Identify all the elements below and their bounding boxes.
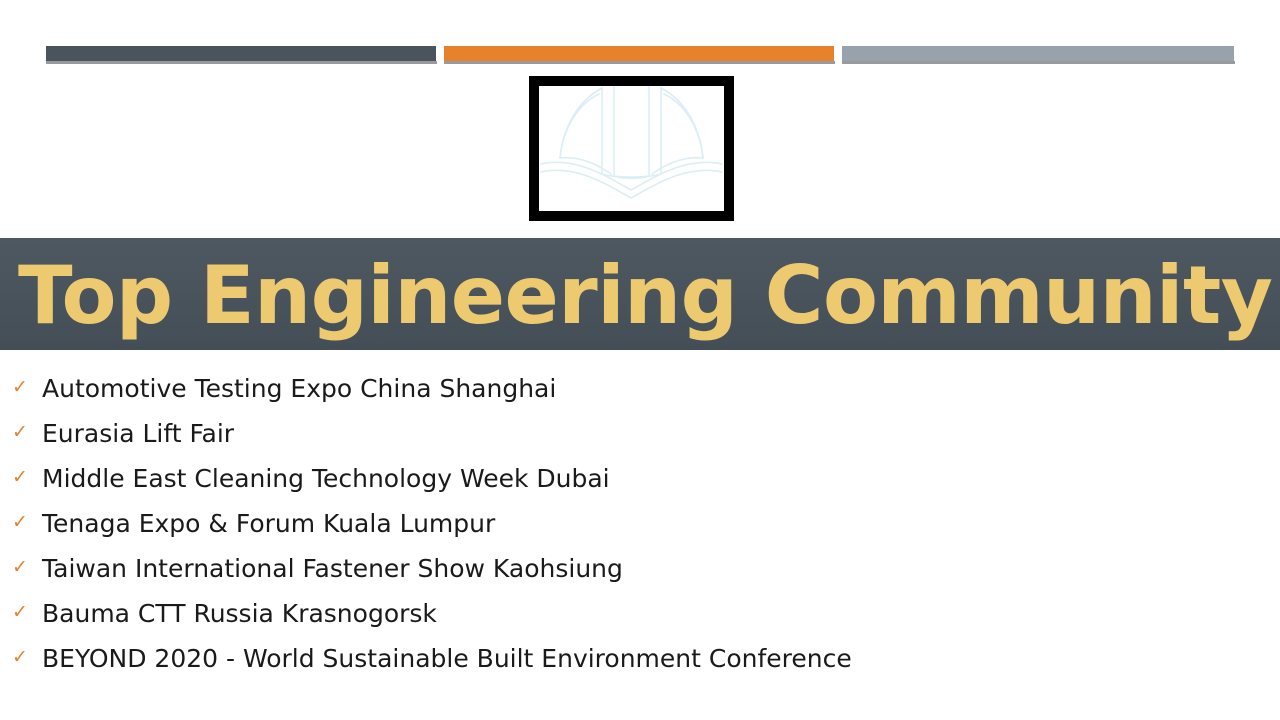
check-icon: ✓	[12, 417, 42, 447]
list-item: ✓ Middle East Cleaning Technology Week D…	[0, 462, 1280, 507]
list-item: ✓ Bauma CTT Russia Krasnogorsk	[0, 597, 1280, 642]
list-item: ✓ Taiwan International Fastener Show Kao…	[0, 552, 1280, 597]
list-item-label: Taiwan International Fastener Show Kaohs…	[42, 552, 623, 585]
check-icon: ✓	[12, 552, 42, 582]
page-title: Top Engineering Community	[18, 256, 1272, 336]
check-icon: ✓	[12, 642, 42, 672]
check-icon: ✓	[12, 372, 42, 402]
hard-hat-icon	[539, 86, 724, 211]
title-banner: Top Engineering Community	[0, 238, 1280, 350]
list-item: ✓ Eurasia Lift Fair	[0, 417, 1280, 462]
check-icon: ✓	[12, 507, 42, 537]
list-item-label: Automotive Testing Expo China Shanghai	[42, 372, 556, 405]
top-bar-light	[842, 46, 1234, 61]
list-item-label: Eurasia Lift Fair	[42, 417, 234, 450]
list-item-label: Bauma CTT Russia Krasnogorsk	[42, 597, 437, 630]
list-item: ✓ BEYOND 2020 - World Sustainable Built …	[0, 642, 1280, 687]
list-item-label: BEYOND 2020 - World Sustainable Built En…	[42, 642, 852, 675]
check-icon: ✓	[12, 462, 42, 492]
top-bar-orange	[444, 46, 834, 61]
list-item-label: Tenaga Expo & Forum Kuala Lumpur	[42, 507, 495, 540]
logo-frame	[529, 76, 734, 221]
bullet-list: ✓ Automotive Testing Expo China Shanghai…	[0, 372, 1280, 687]
top-decorative-bars	[0, 46, 1280, 66]
list-item-label: Middle East Cleaning Technology Week Dub…	[42, 462, 610, 495]
check-icon: ✓	[12, 597, 42, 627]
list-item: ✓ Automotive Testing Expo China Shanghai	[0, 372, 1280, 417]
top-bar-dark	[46, 46, 436, 61]
list-item: ✓ Tenaga Expo & Forum Kuala Lumpur	[0, 507, 1280, 552]
